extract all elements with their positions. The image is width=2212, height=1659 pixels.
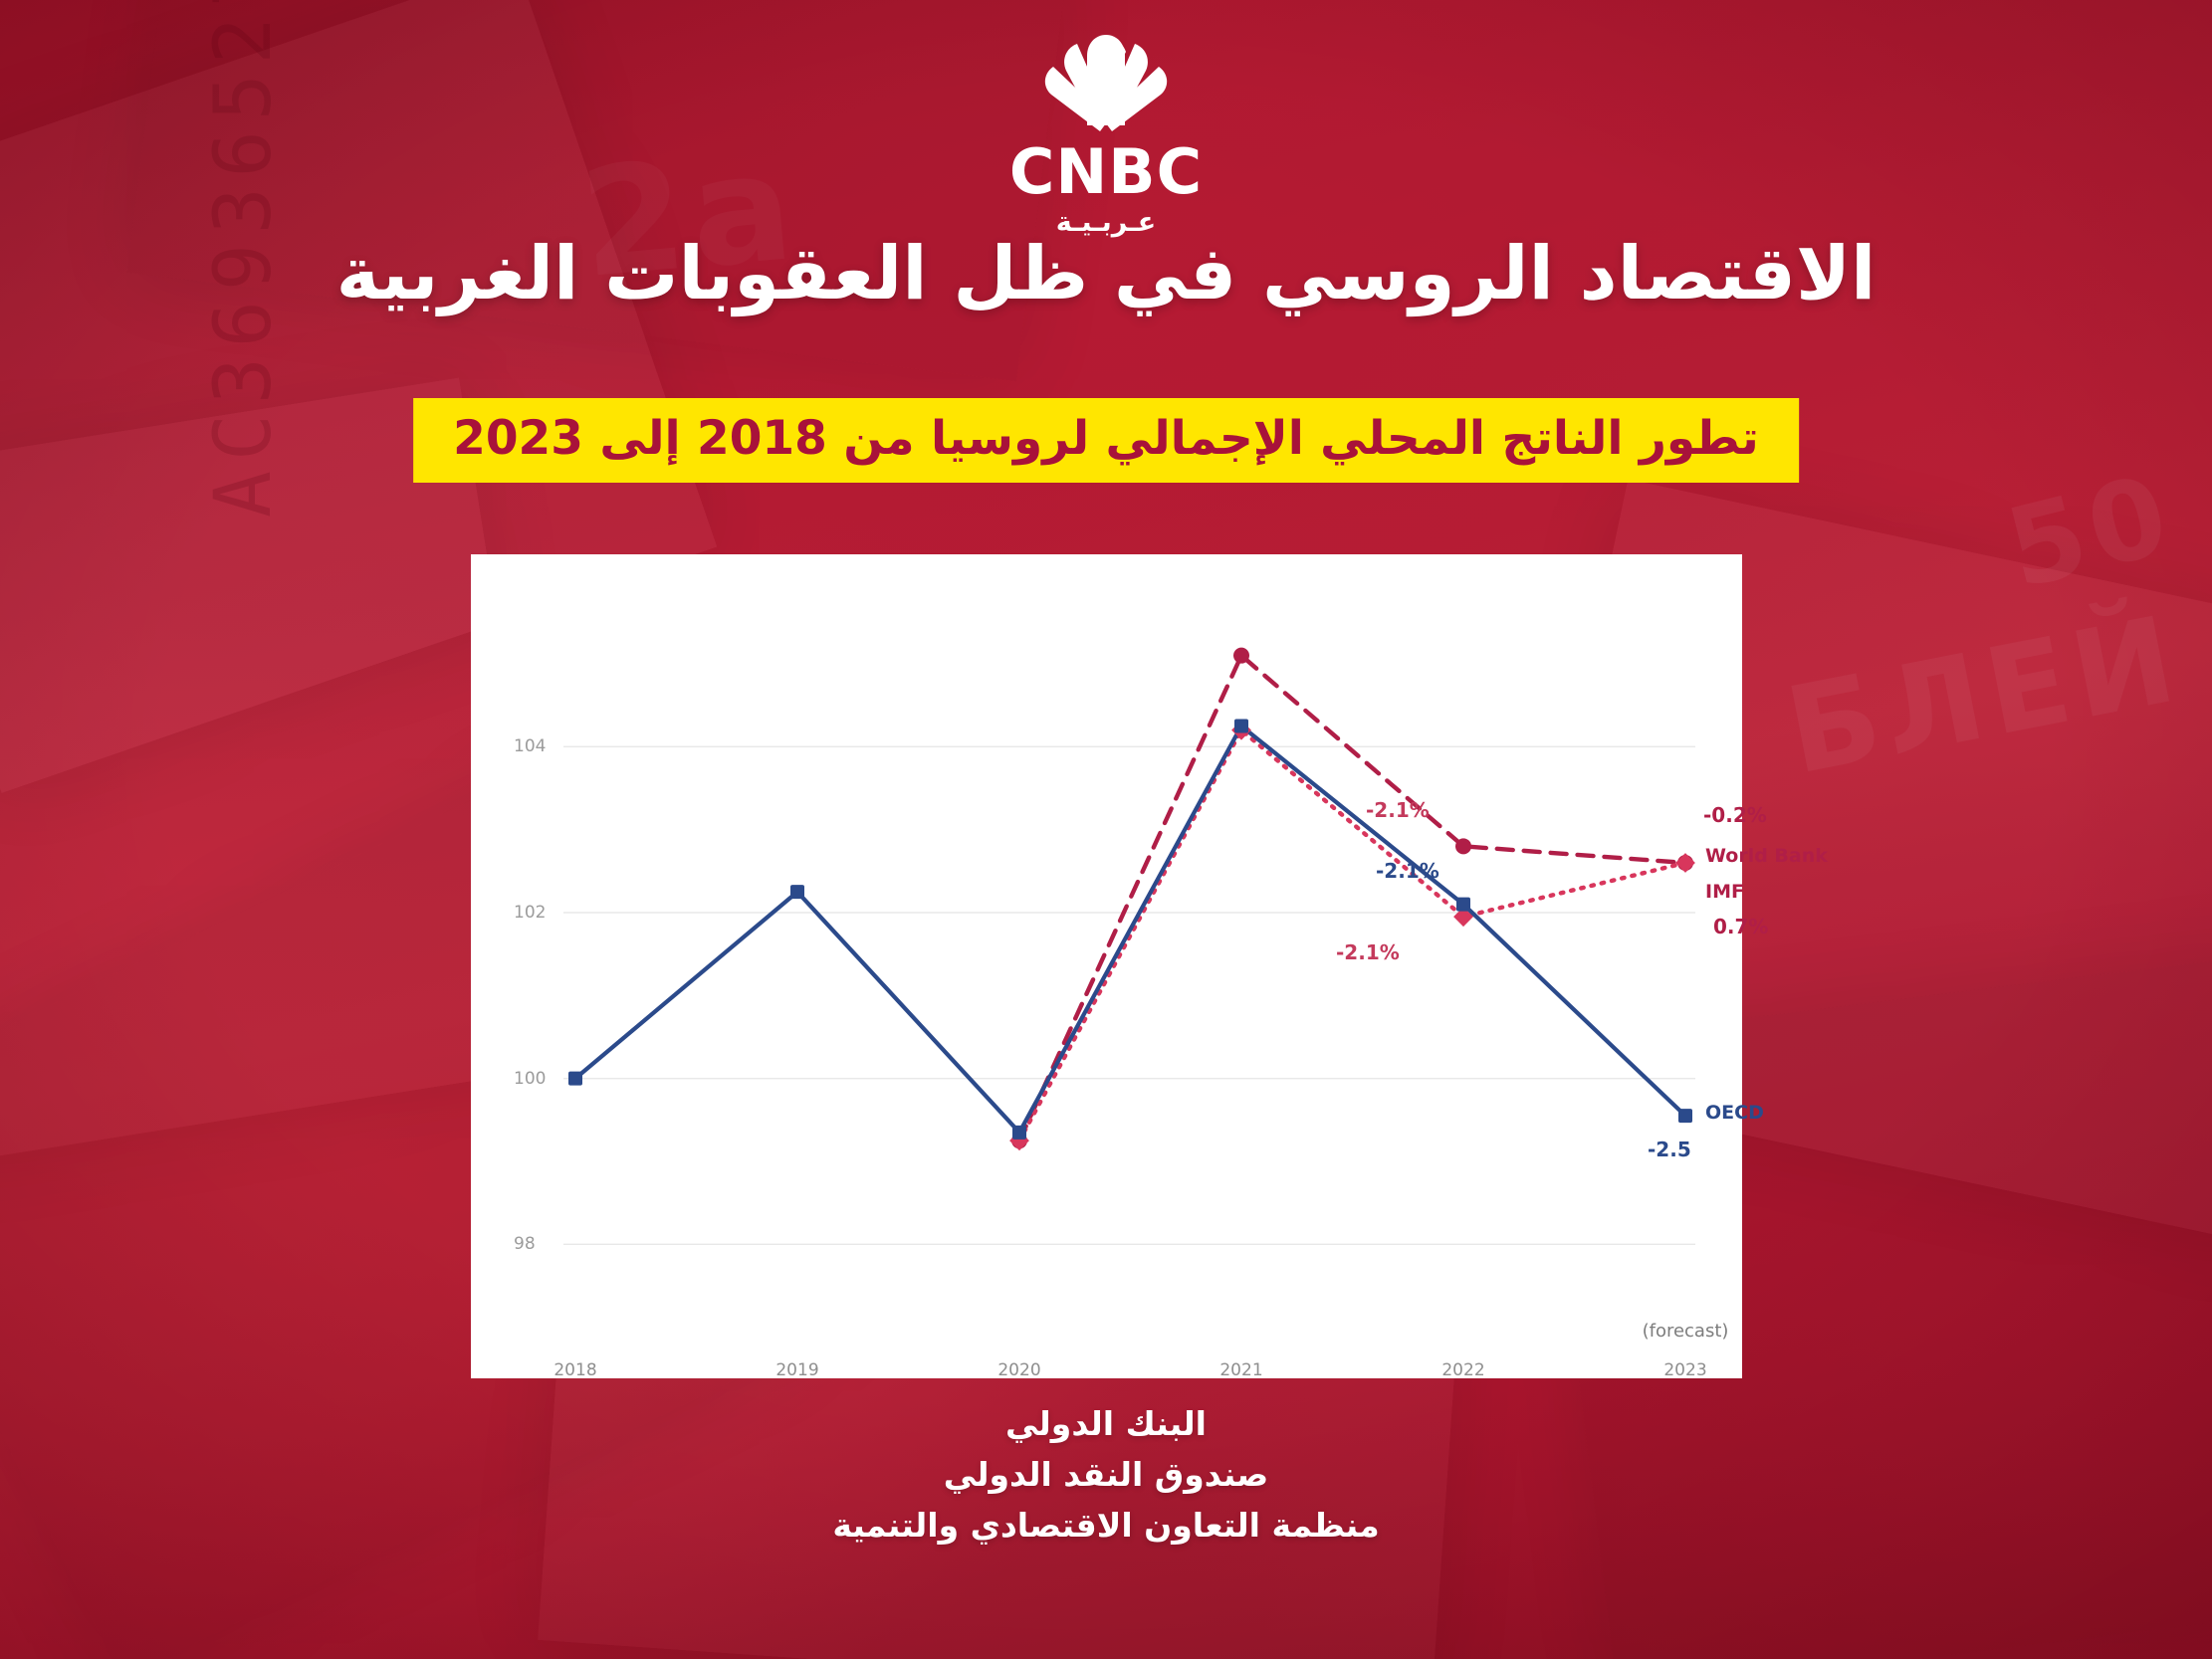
x-axis-tick-label: 2021: [1219, 1360, 1262, 1380]
peacock-icon: [1021, 30, 1191, 137]
imf-series-label: IMF: [1705, 881, 1744, 903]
x-axis-tick-label: 2019: [775, 1360, 818, 1380]
imf-2023-value-label: 0.7%: [1713, 915, 1768, 938]
brand-logo: CNBC عـربـيـة: [0, 30, 2212, 238]
oecd-2022-label: -2.1%: [1376, 859, 1439, 883]
page-title: الاقتصاد الروسي في ظل العقوبات الغربية: [0, 231, 2212, 316]
world-bank-2022-label: -2.1%: [1366, 798, 1430, 822]
x-axis-tick-label: 2023: [1663, 1360, 1706, 1380]
x-axis-tick-label: 2020: [997, 1360, 1040, 1380]
x-axis-tick-label: 2018: [553, 1360, 596, 1380]
oecd-series-label: OECD: [1705, 1102, 1764, 1124]
subtitle-banner: تطور الناتج المحلي الإجمالي لروسيا من 20…: [413, 398, 1799, 483]
chart-panel: 98100102104201820192020202120222023(fore…: [471, 554, 1742, 1378]
y-axis-tick-label: 102: [514, 903, 546, 923]
sources-block: البنك الدولي صندوق النقد الدولي منظمة ال…: [0, 1398, 2212, 1551]
y-axis-tick-label: 100: [514, 1069, 546, 1089]
source-line-oecd: منظمة التعاون الاقتصادي والتنمية: [0, 1500, 2212, 1551]
source-line-imf: صندوق النقد الدولي: [0, 1449, 2212, 1500]
logo-wordmark: CNBC: [1009, 141, 1203, 203]
source-line-world-bank: البنك الدولي: [0, 1398, 2212, 1449]
subtitle-text: تطور الناتج المحلي الإجمالي لروسيا من 20…: [453, 414, 1759, 463]
x-axis-tick-label: 2022: [1441, 1360, 1484, 1380]
oecd-2023-value-label: -2.5: [1648, 1138, 1691, 1161]
forecast-note: (forecast): [1643, 1321, 1729, 1342]
chart-svg: [471, 554, 1742, 1378]
y-axis-tick-label: 98: [514, 1234, 536, 1254]
y-axis-tick-label: 104: [514, 736, 546, 756]
line-chart-plot: 98100102104201820192020202120222023(fore…: [471, 554, 1742, 1378]
world-bank-2023-value-label: -0.2%: [1703, 803, 1767, 827]
world-bank-series-label: World Bank: [1705, 845, 1828, 867]
imf-2022-label: -2.1%: [1336, 940, 1400, 964]
